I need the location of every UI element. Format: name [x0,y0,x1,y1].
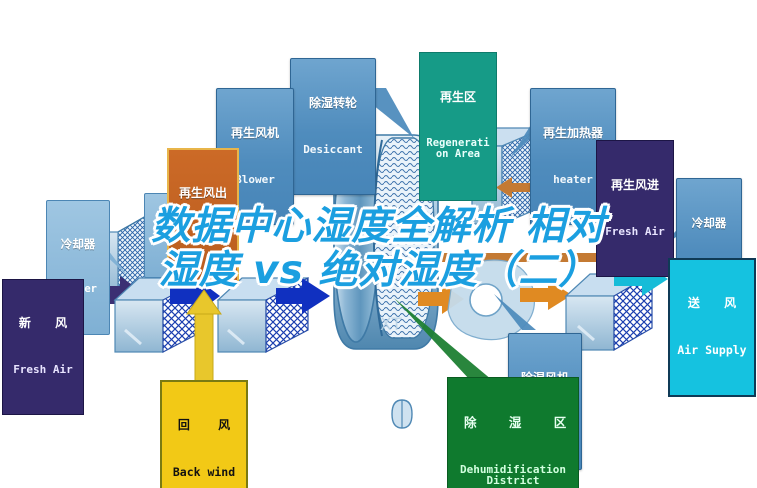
label-desiccant-wheel: 除湿转轮 Desiccant [290,58,376,195]
label-air-supply-en: Air Supply [672,344,752,356]
label-regeneration-area-en: Regenerati on Area [422,138,494,161]
label-regeneration-fresh-air-cn: 再生风进 [599,179,671,192]
label-back-wind-en: Back wind [164,466,244,478]
label-fresh-air-inlet: 新 风 Fresh Air [2,279,84,415]
label-dehumidification-district-en: Dehumidification District [450,464,576,488]
label-fresh-air-inlet-cn: 新 风 [5,317,81,330]
label-regeneration-exhaust-en: Exhaust [171,234,235,246]
wheel-watermark: XT [380,315,402,335]
label-regeneration-fresh-air: 再生风进 Fresh Air [596,140,674,277]
label-regeneration-blower-cn: 再生风机 [219,127,291,140]
label-back-wind: 回 风 Back wind [160,380,248,488]
label-air-supply-cn: 送 风 [672,297,752,310]
diagram-canvas: XT [0,0,757,488]
label-desiccant-wheel-cn: 除湿转轮 [293,97,373,110]
label-fresh-air-inlet-en: Fresh Air [5,364,81,376]
label-dehumidification-district: 除 湿 区 Dehumidification District [447,377,579,488]
label-cooler-left-cn: 冷却器 [49,238,107,250]
label-regeneration-area: 再生区 Regenerati on Area [419,52,497,201]
label-regeneration-fresh-air-en: Fresh Air [599,226,671,238]
label-desiccant-wheel-en: Desiccant [293,144,373,156]
label-regeneration-exhaust: 再生风出 Exhaust [167,148,239,285]
label-regeneration-exhaust-cn: 再生风出 [171,187,235,200]
label-back-wind-cn: 回 风 [164,419,244,432]
label-regeneration-heater-cn: 再生加热器 [533,127,613,140]
label-dehumidification-district-cn: 除 湿 区 [450,416,576,430]
label-cooler-right-cn: 冷却器 [679,217,739,229]
label-regeneration-area-cn: 再生区 [422,91,494,104]
label-air-supply: 送 风 Air Supply [668,258,756,397]
